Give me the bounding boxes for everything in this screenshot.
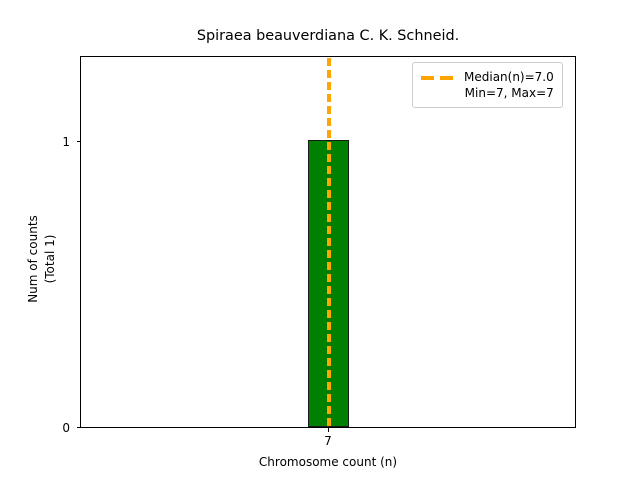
plot-area	[80, 56, 576, 428]
ytick-mark-1	[77, 141, 81, 142]
chart-figure: Spiraea beauverdiana C. K. Schneid. 0 1 …	[0, 0, 640, 480]
xtick-mark-7	[328, 428, 329, 432]
page-title: Spiraea beauverdiana C. K. Schneid.	[80, 28, 576, 44]
median-line	[327, 58, 331, 426]
legend-label-median: Median(n)=7.0	[464, 69, 554, 85]
legend-label-minmax: Min=7, Max=7	[464, 85, 554, 101]
xtick-label-7: 7	[308, 434, 348, 448]
ytick-mark-0	[77, 427, 81, 428]
y-axis-label: Num of counts (Total 1)	[25, 139, 59, 379]
legend-dashed-line-icon	[420, 70, 456, 86]
legend[interactable]: Median(n)=7.0 Min=7, Max=7	[412, 62, 563, 108]
x-axis-label: Chromosome count (n)	[80, 455, 576, 469]
ytick-label-0: 0	[44, 421, 70, 435]
legend-text: Median(n)=7.0 Min=7, Max=7	[464, 69, 554, 101]
